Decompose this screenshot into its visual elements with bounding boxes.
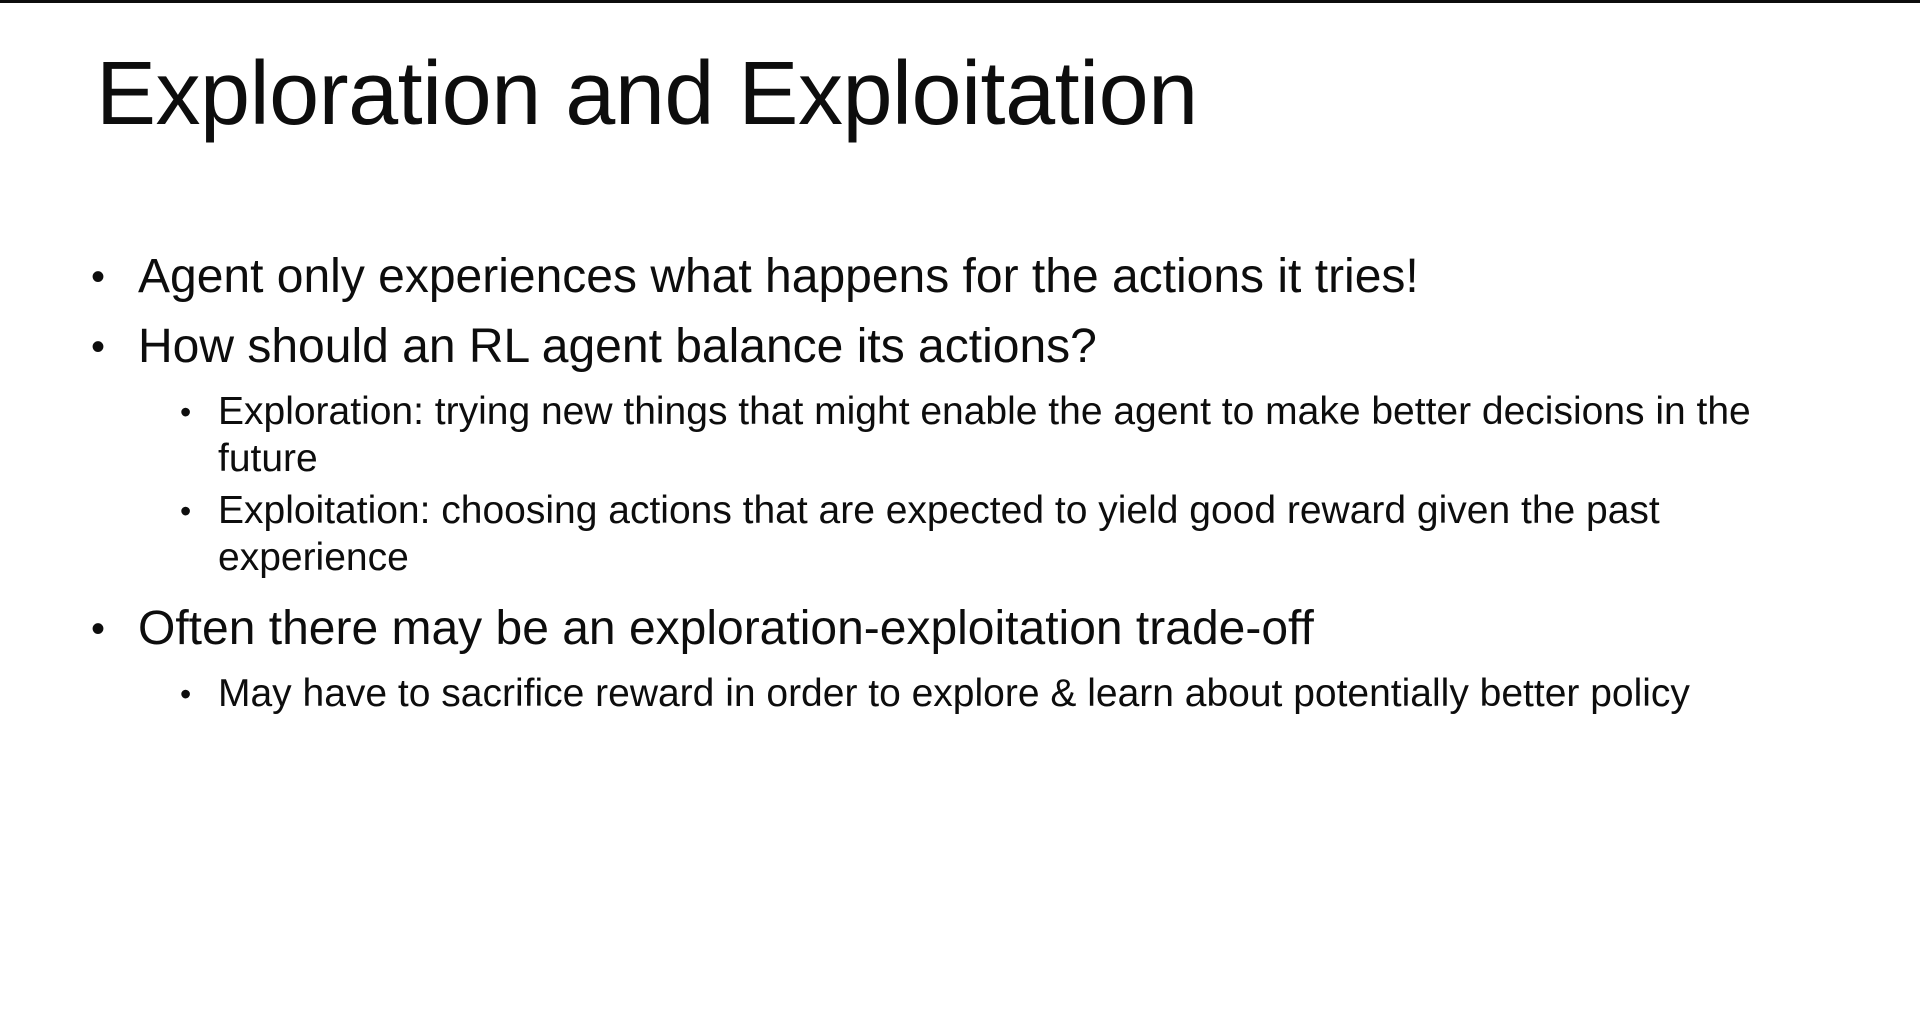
page-title: Exploration and Exploitation <box>96 47 1836 142</box>
sub-list-item: • Exploration: trying new things that mi… <box>176 389 1886 482</box>
presentation-slide: Exploration and Exploitation • Agent onl… <box>0 3 1920 1026</box>
list-item-label: Agent only experiences what happens for … <box>138 249 1886 305</box>
slide-body-content: • Agent only experiences what happens fo… <box>86 249 1886 724</box>
sub-list-item-label: Exploitation: choosing actions that are … <box>218 488 1886 581</box>
list-item-label: How should an RL agent balance its actio… <box>138 319 1886 375</box>
sub-list-item-label: Exploration: trying new things that migh… <box>218 389 1886 482</box>
list-item: • Agent only experiences what happens fo… <box>86 249 1886 305</box>
bullet-point-icon: • <box>176 671 218 717</box>
bullet-point-icon: • <box>176 389 218 435</box>
bullet-point-icon: • <box>86 319 138 375</box>
bullet-point-icon: • <box>86 601 138 657</box>
bullet-point-icon: • <box>176 488 218 534</box>
sub-list-item: • Exploitation: choosing actions that ar… <box>176 488 1886 581</box>
sub-list-item-label: May have to sacrifice reward in order to… <box>218 671 1886 717</box>
list-item: • How should an RL agent balance its act… <box>86 319 1886 375</box>
bullet-point-icon: • <box>86 249 138 305</box>
list-item: • Often there may be an exploration-expl… <box>86 601 1886 657</box>
list-item-label: Often there may be an exploration-exploi… <box>138 601 1886 657</box>
sub-list-item: • May have to sacrifice reward in order … <box>176 671 1886 717</box>
